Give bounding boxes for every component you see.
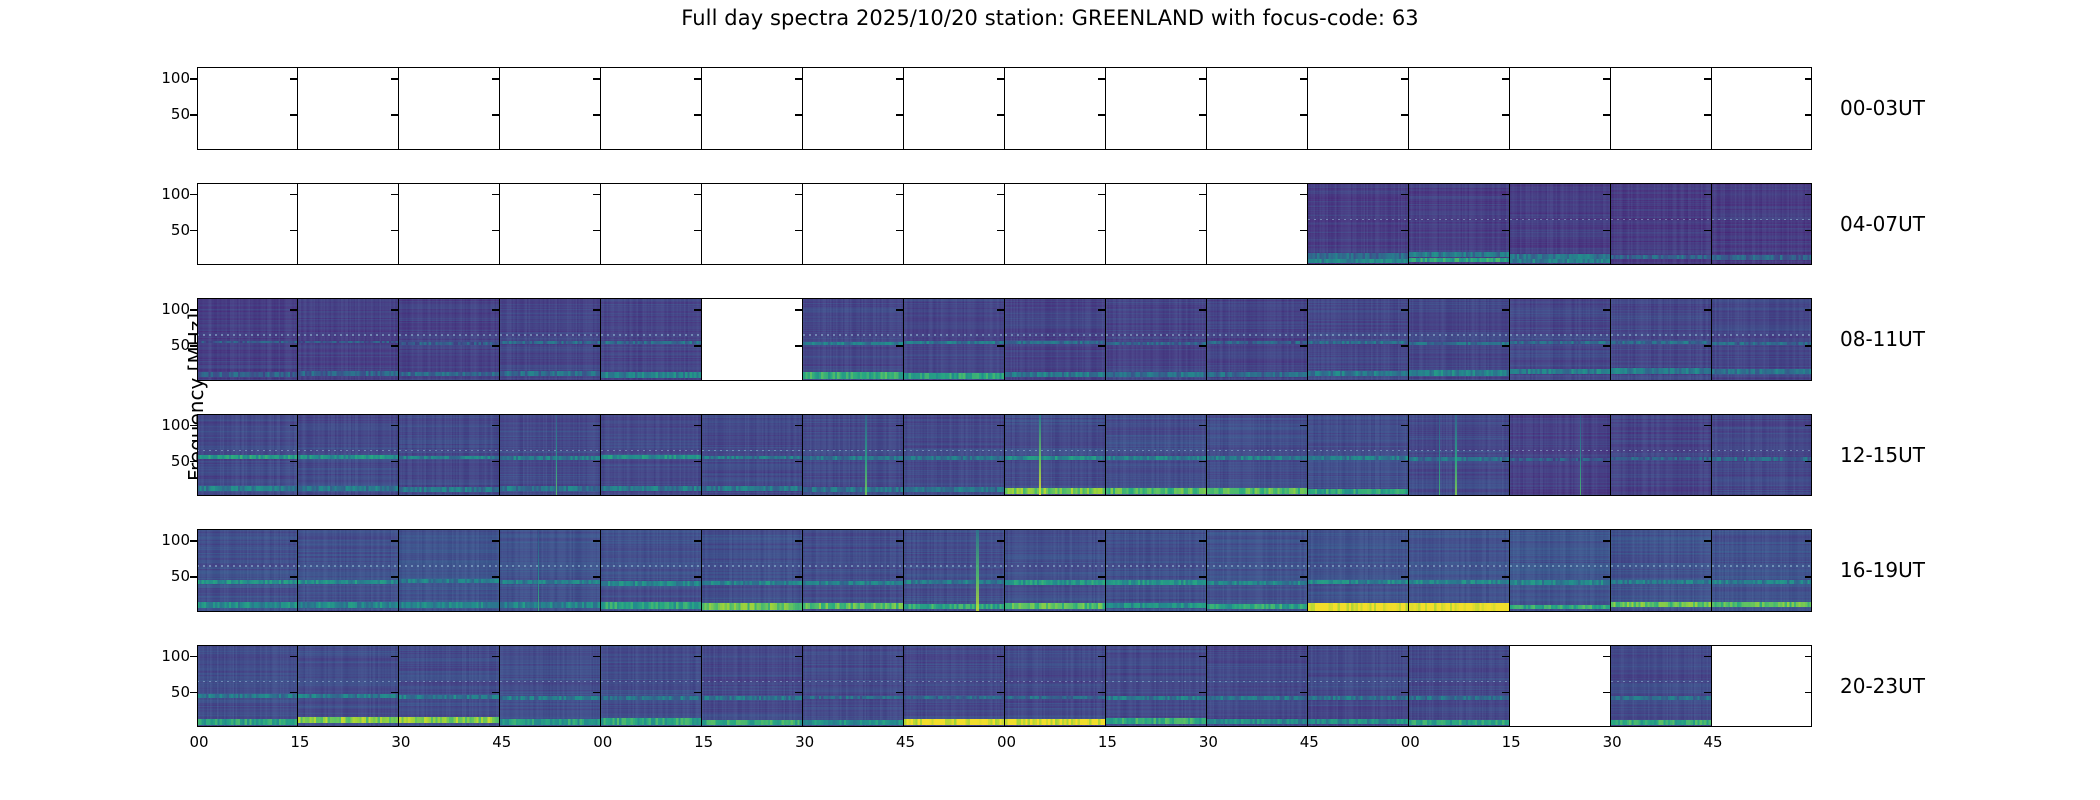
y-tick-mark-100 — [391, 425, 398, 427]
y-tick-mark-100 — [593, 540, 600, 542]
y-tick-mark-50 — [1199, 345, 1206, 347]
y-tick-mark-100 — [492, 309, 499, 311]
spectrogram-cell — [399, 645, 500, 728]
page-title: Full day spectra 2025/10/20 station: GRE… — [0, 6, 2100, 30]
y-tick-mark — [190, 461, 197, 463]
y-tick-mark-50 — [1401, 461, 1408, 463]
y-tick-mark-100 — [997, 425, 1004, 427]
y-tick-mark-50 — [492, 230, 499, 232]
spectrogram-cell — [197, 529, 298, 612]
spectrogram-cell — [1611, 529, 1712, 612]
spectrogram-cell — [1712, 67, 1812, 150]
y-tick-mark — [190, 114, 197, 116]
y-tick-mark-100 — [1098, 656, 1105, 658]
y-tick-mark-100 — [1199, 656, 1206, 658]
spectrogram-cell — [803, 67, 904, 150]
y-tick-mark-50 — [694, 692, 701, 694]
spectrogram-cell — [500, 529, 601, 612]
y-tick-mark-100 — [795, 656, 802, 658]
y-tick-mark-50 — [1704, 230, 1711, 232]
y-tick-mark-100 — [795, 194, 802, 196]
spectrogram-cell — [1510, 414, 1611, 497]
spectrogram-cell — [1308, 645, 1409, 728]
y-tick-mark-100 — [896, 540, 903, 542]
y-tick-mark-100 — [1704, 540, 1711, 542]
spectrogram-cell — [298, 529, 399, 612]
y-tick-mark-100 — [795, 425, 802, 427]
y-tick-mark-100 — [997, 194, 1004, 196]
y-tick-mark-100 — [593, 309, 600, 311]
row-time-label: 04-07UT — [1840, 212, 1925, 236]
y-tick-mark-50 — [1199, 461, 1206, 463]
y-tick-mark-50 — [1502, 576, 1509, 578]
y-tick-mark-100 — [1805, 78, 1812, 80]
x-tick-label: 45 — [492, 733, 511, 751]
x-tick-label: 30 — [1603, 733, 1622, 751]
spectrogram-row-12-15ut — [197, 414, 1812, 497]
y-tick-mark-100 — [795, 309, 802, 311]
y-tick-mark — [190, 656, 197, 658]
spectrogram-cell — [1106, 183, 1207, 266]
y-tick-mark-50 — [1098, 692, 1105, 694]
spectrogram-cell — [702, 529, 803, 612]
y-tick-mark-100 — [1401, 194, 1408, 196]
y-tick-mark-100 — [694, 78, 701, 80]
spectrogram-cell — [702, 67, 803, 150]
y-tick-mark-100 — [1300, 194, 1307, 196]
y-tick-mark-100 — [492, 194, 499, 196]
spectrogram-cell — [197, 67, 298, 150]
y-tick-mark-100 — [1502, 540, 1509, 542]
y-tick-mark-100 — [1704, 425, 1711, 427]
y-tick-mark-50 — [997, 230, 1004, 232]
y-tick-mark — [190, 425, 197, 427]
spectrogram-cell — [1207, 414, 1308, 497]
y-tick-mark-50 — [593, 114, 600, 116]
y-tick-mark-100 — [290, 194, 297, 196]
spectrogram-cell — [1005, 529, 1106, 612]
spectrogram-row-16-19ut — [197, 529, 1812, 612]
y-tick-mark-50 — [997, 576, 1004, 578]
spectrogram-cell — [601, 298, 702, 381]
y-tick-mark-100 — [997, 78, 1004, 80]
y-tick-mark-50 — [1199, 114, 1206, 116]
y-tick-mark-100 — [290, 425, 297, 427]
spectrogram-cell — [1308, 414, 1409, 497]
spectrogram-cell — [1611, 183, 1712, 266]
y-tick-mark-50 — [896, 692, 903, 694]
spectrogram-cell — [1106, 298, 1207, 381]
y-tick-mark-100 — [290, 656, 297, 658]
y-tick-mark-50 — [290, 692, 297, 694]
spectrogram-cell — [500, 183, 601, 266]
y-tick-mark-100 — [391, 309, 398, 311]
y-tick-mark-100 — [1603, 194, 1610, 196]
y-tick-mark-50 — [1704, 114, 1711, 116]
y-tick-mark-50 — [1805, 692, 1812, 694]
y-tick-mark-100 — [1603, 78, 1610, 80]
x-tick-label: 15 — [1502, 733, 1521, 751]
spectrogram-cell — [904, 645, 1005, 728]
y-tick-mark-100 — [1603, 656, 1610, 658]
y-tick-mark-100 — [1603, 425, 1610, 427]
y-tick-mark-100 — [795, 78, 802, 80]
spectrogram-cell — [803, 529, 904, 612]
y-tick-mark-100 — [290, 309, 297, 311]
row-time-label: 00-03UT — [1840, 96, 1925, 120]
y-tick-mark-100 — [1704, 78, 1711, 80]
y-tick-mark-100 — [694, 540, 701, 542]
y-tick-mark-50 — [997, 692, 1004, 694]
spectrogram-cell — [1712, 298, 1812, 381]
y-tick-mark-50 — [795, 576, 802, 578]
x-tick-label: 45 — [1704, 733, 1723, 751]
y-tick-mark — [190, 194, 197, 196]
spectrogram-cell — [500, 414, 601, 497]
spectrogram-cell — [197, 645, 298, 728]
y-tick-mark-100 — [896, 78, 903, 80]
spectrogram-cell — [1611, 67, 1712, 150]
y-tick-mark-100 — [1603, 309, 1610, 311]
y-tick-label: 100 — [161, 69, 190, 87]
y-tick-mark-100 — [290, 78, 297, 80]
y-tick-mark-50 — [1805, 345, 1812, 347]
y-tick-mark-50 — [1805, 114, 1812, 116]
y-tick-mark-100 — [1502, 309, 1509, 311]
spectrogram-cell — [803, 298, 904, 381]
y-tick-mark-50 — [1300, 576, 1307, 578]
y-tick-mark-100 — [1704, 656, 1711, 658]
y-tick-label: 100 — [161, 647, 190, 665]
spectrogram-cell — [1106, 414, 1207, 497]
y-tick-mark-50 — [1704, 692, 1711, 694]
y-tick-mark-50 — [1805, 461, 1812, 463]
spectrogram-cell — [1106, 645, 1207, 728]
spectrogram-cell — [298, 298, 399, 381]
spectrogram-cell — [399, 529, 500, 612]
spectrogram-cell — [1308, 67, 1409, 150]
y-tick-mark-100 — [1805, 540, 1812, 542]
y-tick-mark-100 — [1502, 656, 1509, 658]
spectrogram-cell — [601, 414, 702, 497]
spectrogram-cell — [702, 645, 803, 728]
y-tick-mark-50 — [1704, 345, 1711, 347]
y-tick-mark-100 — [896, 309, 903, 311]
y-tick-mark — [190, 230, 197, 232]
y-tick-label: 50 — [171, 221, 190, 239]
spectrogram-cell — [1611, 298, 1712, 381]
y-tick-mark-50 — [1502, 345, 1509, 347]
spectrogram-cell — [702, 298, 803, 381]
x-tick-label: 00 — [1401, 733, 1420, 751]
spectrogram-cell — [1207, 645, 1308, 728]
y-tick-mark-50 — [694, 114, 701, 116]
spectrogram-cell — [702, 183, 803, 266]
x-axis-ticks: 00153045001530450015304500153045 — [197, 733, 1812, 763]
y-tick-mark-50 — [694, 230, 701, 232]
spectrogram-cell — [399, 298, 500, 381]
y-tick-mark-50 — [391, 576, 398, 578]
spectrogram-cell — [1005, 183, 1106, 266]
y-tick-mark-50 — [1502, 114, 1509, 116]
y-tick-mark-100 — [1199, 540, 1206, 542]
y-tick-mark-50 — [1603, 576, 1610, 578]
x-tick-label: 30 — [1199, 733, 1218, 751]
y-tick-mark-50 — [593, 692, 600, 694]
y-tick-mark-50 — [1401, 576, 1408, 578]
spectrogram-cell — [1510, 183, 1611, 266]
y-tick-mark-100 — [1704, 309, 1711, 311]
y-tick-mark-50 — [1199, 692, 1206, 694]
spectrogram-cell — [1409, 67, 1510, 150]
row-time-label: 08-11UT — [1840, 327, 1925, 351]
y-tick-mark-100 — [694, 425, 701, 427]
y-tick-mark-50 — [795, 230, 802, 232]
y-tick-mark-100 — [492, 540, 499, 542]
spectrogram-cell — [298, 183, 399, 266]
y-tick-mark-100 — [391, 78, 398, 80]
y-tick-mark-50 — [593, 576, 600, 578]
spectrogram-cell — [1308, 529, 1409, 612]
x-tick-label: 15 — [694, 733, 713, 751]
y-tick-mark-50 — [391, 692, 398, 694]
y-tick-mark-100 — [997, 656, 1004, 658]
y-tick-mark-100 — [492, 656, 499, 658]
spectrogram-row-04-07ut — [197, 183, 1812, 266]
spectrogram-cell — [904, 529, 1005, 612]
spectrogram-cell — [702, 414, 803, 497]
y-tick-mark — [190, 692, 197, 694]
y-tick-label: 100 — [161, 531, 190, 549]
y-tick-mark-100 — [694, 656, 701, 658]
spectrogram-cell — [399, 414, 500, 497]
spectrogram-cell — [601, 183, 702, 266]
y-tick-mark-50 — [896, 230, 903, 232]
y-tick-mark-100 — [492, 425, 499, 427]
x-tick-label: 30 — [795, 733, 814, 751]
y-tick-mark-50 — [795, 345, 802, 347]
y-tick-mark-50 — [1401, 230, 1408, 232]
y-tick-mark-50 — [694, 345, 701, 347]
spectrogram-cell — [1510, 529, 1611, 612]
y-tick-mark-50 — [1603, 345, 1610, 347]
spectrogram-cell — [1510, 67, 1611, 150]
y-tick-mark-50 — [896, 345, 903, 347]
y-tick-mark-50 — [795, 114, 802, 116]
y-tick-mark-50 — [694, 576, 701, 578]
y-tick-mark-100 — [997, 309, 1004, 311]
spectrogram-cell — [1005, 414, 1106, 497]
y-tick-mark-50 — [1502, 461, 1509, 463]
y-tick-mark-100 — [593, 78, 600, 80]
y-tick-mark-50 — [492, 692, 499, 694]
spectrogram-cell — [904, 298, 1005, 381]
y-tick-mark — [190, 345, 197, 347]
y-tick-mark-100 — [593, 656, 600, 658]
y-tick-mark-50 — [1805, 576, 1812, 578]
spectrogram-cell — [1207, 529, 1308, 612]
spectrogram-cell — [1005, 645, 1106, 728]
y-tick-mark-100 — [593, 194, 600, 196]
spectrogram-cell — [298, 645, 399, 728]
y-tick-mark-50 — [391, 114, 398, 116]
x-tick-label: 00 — [189, 733, 208, 751]
spectrogram-cell — [1005, 298, 1106, 381]
y-tick-mark-50 — [1300, 230, 1307, 232]
spectrogram-row-08-11ut — [197, 298, 1812, 381]
y-tick-mark-100 — [290, 540, 297, 542]
y-tick-mark-50 — [492, 345, 499, 347]
y-tick-mark-50 — [896, 576, 903, 578]
y-tick-mark-50 — [997, 345, 1004, 347]
y-tick-mark-50 — [1300, 114, 1307, 116]
spectrogram-cell — [1712, 183, 1812, 266]
y-tick-mark-100 — [492, 78, 499, 80]
spectrogram-figure: Full day spectra 2025/10/20 station: GRE… — [0, 0, 2100, 800]
y-tick-mark-50 — [1401, 345, 1408, 347]
y-tick-mark-100 — [1199, 425, 1206, 427]
spectrogram-cell — [298, 67, 399, 150]
y-tick-mark-100 — [1199, 194, 1206, 196]
spectrogram-cell — [1308, 183, 1409, 266]
spectrogram-cell — [197, 298, 298, 381]
spectrogram-cell — [1106, 529, 1207, 612]
x-tick-label: 45 — [896, 733, 915, 751]
y-tick-mark-100 — [1300, 78, 1307, 80]
y-tick-mark-50 — [1098, 114, 1105, 116]
spectrogram-cell — [500, 298, 601, 381]
spectrogram-cell — [1005, 67, 1106, 150]
y-tick-mark-100 — [1098, 540, 1105, 542]
y-tick-mark-50 — [1502, 230, 1509, 232]
spectrogram-cell — [1409, 529, 1510, 612]
y-tick-mark-50 — [997, 461, 1004, 463]
y-tick-mark-100 — [795, 540, 802, 542]
y-tick-mark-50 — [896, 461, 903, 463]
spectrogram-cell — [1611, 645, 1712, 728]
y-tick-mark-50 — [1603, 114, 1610, 116]
y-tick-mark-50 — [290, 576, 297, 578]
y-tick-mark-100 — [1704, 194, 1711, 196]
y-tick-mark-50 — [795, 461, 802, 463]
y-tick-label: 50 — [171, 683, 190, 701]
x-tick-label: 00 — [593, 733, 612, 751]
y-tick-mark-100 — [896, 656, 903, 658]
y-tick-mark-100 — [694, 194, 701, 196]
y-tick-mark-100 — [1401, 309, 1408, 311]
spectrogram-cell — [1409, 298, 1510, 381]
x-tick-label: 30 — [391, 733, 410, 751]
y-tick-mark-50 — [1300, 692, 1307, 694]
y-tick-mark-50 — [290, 461, 297, 463]
y-tick-mark — [190, 576, 197, 578]
spectrogram-cell — [1106, 67, 1207, 150]
y-tick-mark-50 — [492, 114, 499, 116]
y-tick-mark-100 — [1401, 540, 1408, 542]
y-tick-mark-100 — [997, 540, 1004, 542]
y-tick-mark-50 — [896, 114, 903, 116]
y-tick-mark-100 — [1401, 656, 1408, 658]
y-tick-mark-50 — [1098, 345, 1105, 347]
y-tick-mark-50 — [391, 230, 398, 232]
y-tick-mark-50 — [1603, 461, 1610, 463]
spectrogram-cell — [399, 67, 500, 150]
y-tick-mark-100 — [1199, 78, 1206, 80]
y-tick-mark-100 — [1300, 425, 1307, 427]
y-tick-mark-50 — [1098, 576, 1105, 578]
y-tick-mark-50 — [1704, 461, 1711, 463]
spectrogram-cell — [803, 645, 904, 728]
spectrogram-cell — [1712, 414, 1812, 497]
y-tick-mark-50 — [1502, 692, 1509, 694]
spectrogram-cell — [904, 183, 1005, 266]
y-tick-mark-100 — [593, 425, 600, 427]
y-tick-mark-100 — [1805, 194, 1812, 196]
y-tick-mark-50 — [1603, 230, 1610, 232]
y-tick-mark-100 — [1098, 194, 1105, 196]
y-tick-mark-50 — [1603, 692, 1610, 694]
spectrogram-cell — [1207, 67, 1308, 150]
y-tick-mark-50 — [492, 576, 499, 578]
spectrogram-cell — [803, 414, 904, 497]
y-tick-mark-100 — [1199, 309, 1206, 311]
y-tick-mark-100 — [1805, 309, 1812, 311]
spectrogram-cell — [1207, 183, 1308, 266]
x-tick-label: 00 — [997, 733, 1016, 751]
spectrogram-cell — [1712, 645, 1812, 728]
y-tick-mark-50 — [593, 461, 600, 463]
y-tick-mark-100 — [1603, 540, 1610, 542]
spectrogram-cell — [500, 67, 601, 150]
y-tick-label: 50 — [171, 336, 190, 354]
y-tick-mark-50 — [1098, 461, 1105, 463]
spectrogram-cell — [601, 645, 702, 728]
y-tick-mark-100 — [1401, 425, 1408, 427]
y-tick-mark-100 — [896, 194, 903, 196]
y-tick-mark-50 — [1300, 461, 1307, 463]
y-tick-mark-50 — [492, 461, 499, 463]
y-tick-mark-50 — [593, 230, 600, 232]
y-tick-label: 50 — [171, 567, 190, 585]
y-tick-mark-100 — [391, 656, 398, 658]
y-tick-mark-100 — [1401, 78, 1408, 80]
y-tick-mark-50 — [593, 345, 600, 347]
y-tick-mark — [190, 309, 197, 311]
y-tick-mark-50 — [1401, 114, 1408, 116]
y-tick-mark-50 — [290, 345, 297, 347]
spectrogram-cell — [1308, 298, 1409, 381]
y-tick-mark-50 — [1098, 230, 1105, 232]
x-tick-label: 45 — [1300, 733, 1319, 751]
y-tick-mark-50 — [997, 114, 1004, 116]
y-tick-mark — [190, 78, 197, 80]
y-tick-mark-100 — [1300, 656, 1307, 658]
y-tick-mark-100 — [1502, 194, 1509, 196]
y-tick-mark-100 — [1098, 425, 1105, 427]
y-tick-mark-50 — [1199, 576, 1206, 578]
spectrogram-cell — [803, 183, 904, 266]
y-tick-mark-50 — [1401, 692, 1408, 694]
y-tick-mark-50 — [290, 114, 297, 116]
y-tick-mark-50 — [795, 692, 802, 694]
spectrogram-cell — [904, 414, 1005, 497]
spectrogram-row-00-03ut — [197, 67, 1812, 150]
spectrogram-cell — [399, 183, 500, 266]
y-tick-mark-100 — [1098, 78, 1105, 80]
y-tick-mark-100 — [896, 425, 903, 427]
spectrogram-cell — [1409, 414, 1510, 497]
y-tick-mark-50 — [391, 345, 398, 347]
